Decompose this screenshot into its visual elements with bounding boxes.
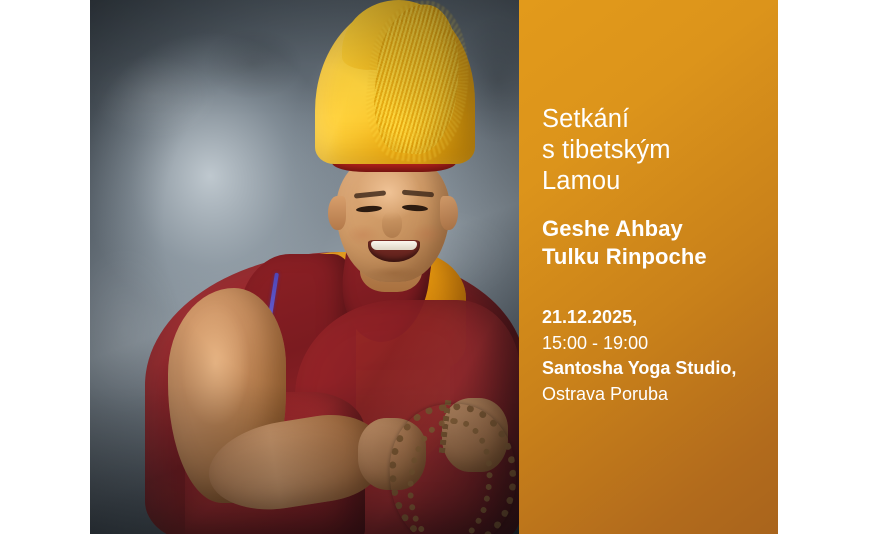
event-date: 21.12.2025, [542,305,772,331]
event-poster: Setkání s tibetským Lamou Geshe Ahbay Tu… [0,0,870,534]
lama-portrait-photo [90,0,519,534]
heading-line-2: s tibetským [542,135,772,166]
heading-line-1: Setkání [542,104,772,135]
speaker-name: Geshe Ahbay Tulku Rinpoche [542,215,772,271]
event-time: 15:00 - 19:00 [542,331,772,357]
event-details: 21.12.2025, 15:00 - 19:00 Santosha Yoga … [542,305,772,407]
orange-text-panel: Setkání s tibetským Lamou Geshe Ahbay Tu… [519,0,778,534]
event-venue: Santosha Yoga Studio, [542,356,772,382]
backdrop-vignette [90,0,519,534]
heading-line-3: Lamou [542,166,772,197]
panel-content: Setkání s tibetským Lamou Geshe Ahbay Tu… [542,0,772,534]
event-city: Ostrava Poruba [542,382,772,408]
speaker-line-1: Geshe Ahbay [542,215,772,243]
speaker-line-2: Tulku Rinpoche [542,243,772,271]
event-heading: Setkání s tibetským Lamou [542,104,772,197]
